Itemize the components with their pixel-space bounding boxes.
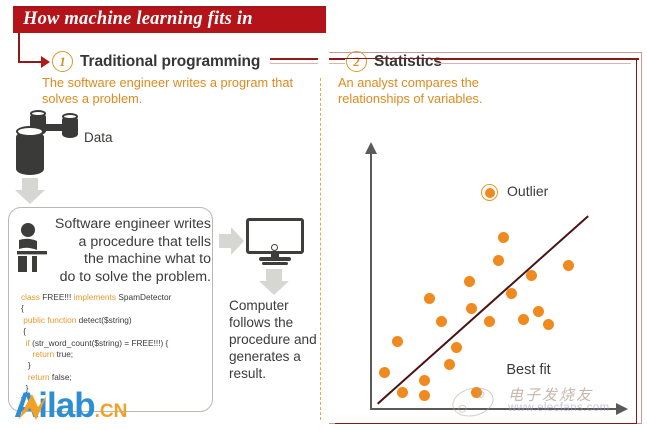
watermark-ailab-suffix: .CN (95, 401, 128, 422)
chart-dot (533, 306, 544, 317)
section-1-rule (270, 58, 318, 60)
watermark-elecfans-logo-icon (449, 383, 497, 420)
chart-dot (563, 260, 574, 271)
engineer-line-2: a procedure that tells (39, 234, 211, 252)
chart-dot (419, 375, 430, 386)
watermark-elecfans: 电子发烧友 www.elecfans.com (452, 384, 642, 422)
chart-dot (506, 288, 517, 299)
cylinder-small-right-cap (62, 113, 78, 120)
scatter-chart: Best fit Outlier (352, 142, 637, 420)
watermark-elecfans-url: www.elecfans.com (508, 402, 610, 414)
chart-dot (397, 387, 408, 398)
banner-connector-horizontal (18, 61, 42, 63)
code-line: { (21, 303, 211, 314)
cylinder-large-cap (16, 126, 44, 137)
page-title: How machine learning fits in (13, 9, 253, 30)
chart-dot (518, 314, 529, 325)
monitor-icon (246, 218, 304, 264)
cylinder-small-left-cap (30, 110, 46, 117)
engineer-line-3: the machine what to (39, 251, 211, 269)
chart-dot (498, 232, 509, 243)
chart-dot (464, 276, 475, 287)
code-line: class FREE!!! implements SpamDetector (21, 292, 211, 303)
code-line: if (str_word_count($string) = FREE!!!) { (21, 338, 211, 349)
section-1-subtitle: The software engineer writes a program t… (42, 75, 312, 106)
code-line: public function detect($string) (21, 315, 211, 326)
chart-dot (436, 316, 447, 327)
chart-dot (451, 342, 462, 353)
chart-dot (543, 319, 554, 330)
computer-description: Computer follows the procedure and gener… (229, 297, 317, 382)
chart-best-fit-line (377, 215, 589, 404)
data-label: Data (84, 130, 113, 145)
chart-dot (379, 367, 390, 378)
chart-dot (424, 293, 435, 304)
engineer-line-4: do to solve the problem. (39, 269, 211, 287)
chart-best-fit-label: Best fit (506, 362, 550, 378)
watermark-ailab-arrow-icon (16, 392, 50, 422)
code-line: } (21, 360, 211, 371)
chart-dot (484, 316, 495, 327)
chart-y-axis-arrow-icon (365, 142, 377, 154)
banner-connector-vertical (18, 33, 20, 63)
column-divider (320, 78, 321, 420)
banner-connector-arrow-icon (41, 56, 50, 68)
chart-legend-marker-icon (481, 184, 498, 201)
engineer-box-text: Software engineer writes a procedure tha… (39, 216, 211, 286)
section-1-title: Traditional programming (80, 53, 260, 71)
section-1-rule-thin (270, 63, 318, 64)
engineer-line-1: Software engineer writes (39, 216, 211, 234)
code-line: return false; (21, 372, 211, 383)
engineer-box: Software engineer writes a procedure tha… (8, 207, 213, 412)
chart-y-axis (370, 154, 372, 410)
section-1-number: 1 (59, 54, 66, 70)
section-1-number-badge: 1 (52, 51, 73, 72)
chart-dot (526, 270, 537, 281)
code-line: { (21, 326, 211, 337)
chart-dot (419, 390, 430, 401)
code-line: return true; (21, 349, 211, 360)
chart-dot (466, 303, 477, 314)
infographic-root: How machine learning fits in 1 Tradition… (0, 0, 647, 425)
chart-dot (392, 336, 403, 347)
chart-dot (444, 359, 455, 370)
chart-dot (493, 255, 504, 266)
chart-legend-label: Outlier (507, 183, 548, 199)
cylinder-large (16, 131, 44, 175)
title-banner: How machine learning fits in (13, 6, 326, 33)
